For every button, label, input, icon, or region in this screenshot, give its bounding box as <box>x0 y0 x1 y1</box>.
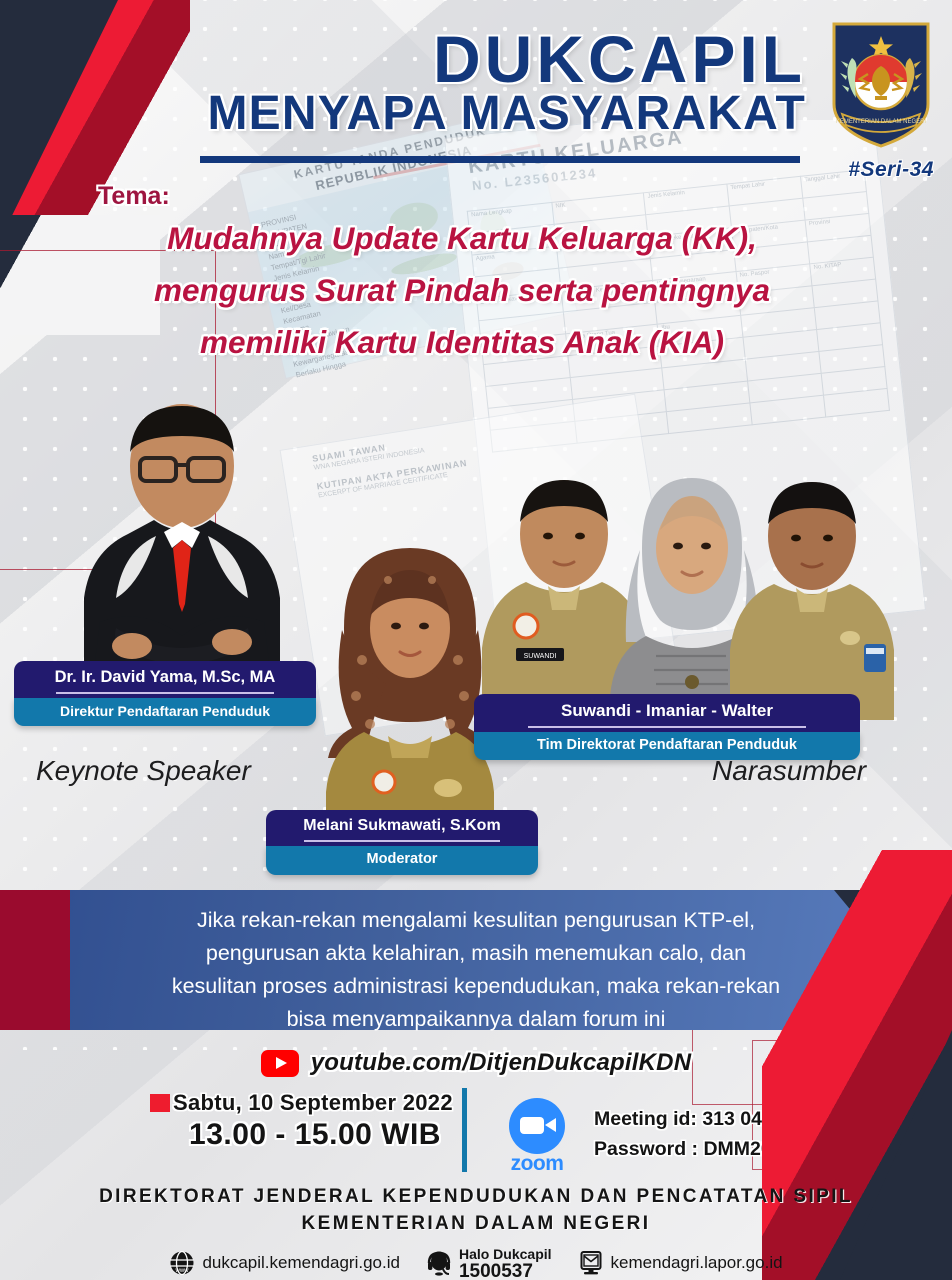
poster-root: KARTU TANDA PENDUDUK REPUBLIK INDONESIA … <box>0 0 952 1280</box>
zoom-camera-icon <box>509 1098 565 1154</box>
message-line-4: bisa menyampaikannya dalam forum ini <box>86 1003 866 1036</box>
footer-contacts: www dukcapil.kemendagri.go.id Halo Dukca… <box>0 1246 952 1280</box>
keynote-speaker-photo <box>36 370 326 700</box>
message-text: Jika rekan-rekan mengalami kesulitan pen… <box>86 904 866 1036</box>
theme-title: Mudahnya Update Kartu Keluarga (KK), men… <box>0 212 952 368</box>
schedule-date-line: Sabtu, 10 September 2022 <box>150 1090 480 1116</box>
zoom-logo: zoom <box>492 1098 582 1176</box>
keynote-name: Dr. Ir. David Yama, M.Sc, MA <box>14 661 316 698</box>
schedule-time: 13.00 - 15.00 WIB <box>150 1118 480 1152</box>
contact-hotline: Halo Dukcapil 1500537 <box>426 1246 552 1280</box>
keynote-name-plate: Dr. Ir. David Yama, M.Sc, MA Direktur Pe… <box>14 661 316 726</box>
theme-line-2: mengurus Surat Pindah serta pentingnya <box>0 264 952 316</box>
emblem-ribbon-text: KEMENTERIAN DALAM NEGERI <box>836 119 927 125</box>
schedule-date: Sabtu, 10 September 2022 <box>173 1090 453 1115</box>
contact-hotline-number: 1500537 <box>459 1263 552 1280</box>
team-name-plate: Suwandi - Imaniar - Walter Tim Direktora… <box>474 694 860 760</box>
footer-org-line-1: DIREKTORAT JENDERAL KEPENDUDUKAN DAN PEN… <box>0 1186 952 1208</box>
page-title: DUKCAPIL <box>433 26 806 92</box>
team-names: Suwandi - Imaniar - Walter <box>474 694 860 732</box>
moderator-name-plate: Melani Sukmawati, S.Kom Moderator <box>266 810 538 875</box>
message-banner-left-accent <box>0 890 70 1030</box>
youtube-url[interactable]: youtube.com/DitjenDukcapilKDN <box>311 1049 692 1077</box>
kemendagri-emblem-icon: KEMENTERIAN DALAM NEGERI <box>828 18 934 150</box>
contact-lapor[interactable]: kemendagri.lapor.go.id <box>578 1250 783 1276</box>
contact-website-label[interactable]: dukcapil.kemendagri.go.id <box>202 1253 400 1273</box>
theme-label: Tema: <box>98 182 170 211</box>
globe-www-icon: www <box>169 1250 195 1276</box>
header-underline-rule <box>200 156 800 163</box>
theme-line-1: Mudahnya Update Kartu Keluarga (KK), <box>0 212 952 264</box>
moderator-role: Moderator <box>266 846 538 875</box>
narasumber-team-photo: SUWANDI <box>480 450 900 720</box>
headset-icon <box>426 1250 452 1276</box>
svg-text:www: www <box>175 1268 190 1274</box>
page-subtitle: MENYAPA MASYARAKAT <box>207 90 806 138</box>
contact-lapor-label[interactable]: kemendagri.lapor.go.id <box>611 1253 783 1273</box>
computer-mail-icon <box>578 1250 604 1276</box>
schedule-divider <box>462 1088 467 1172</box>
footer-org-line-2: KEMENTERIAN DALAM NEGERI <box>0 1213 952 1235</box>
youtube-icon[interactable] <box>261 1050 299 1077</box>
keynote-role: Direktur Pendaftaran Penduduk <box>14 698 316 726</box>
message-line-3: kesulitan proses administrasi kependuduk… <box>86 970 866 1003</box>
red-square-bullet-icon <box>150 1094 170 1112</box>
header: DUKCAPIL MENYAPA MASYARAKAT <box>0 10 952 170</box>
moderator-name: Melani Sukmawati, S.Kom <box>266 810 538 846</box>
contact-hotline-text: Halo Dukcapil 1500537 <box>459 1246 552 1280</box>
schedule-datetime: Sabtu, 10 September 2022 13.00 - 15.00 W… <box>150 1090 480 1152</box>
svg-text:SUWANDI: SUWANDI <box>524 653 557 660</box>
narasumber-label: Narasumber <box>712 755 866 787</box>
theme-line-3: memiliki Kartu Identitas Anak (KIA) <box>0 316 952 368</box>
contact-website[interactable]: www dukcapil.kemendagri.go.id <box>169 1250 400 1276</box>
keynote-label: Keynote Speaker <box>36 755 251 787</box>
narasumber-3 <box>730 482 894 720</box>
message-line-1: Jika rekan-rekan mengalami kesulitan pen… <box>86 904 866 937</box>
series-badge: #Seri-34 <box>848 158 934 182</box>
footer: DIREKTORAT JENDERAL KEPENDUDUKAN DAN PEN… <box>0 1182 952 1280</box>
message-line-2: pengurusan akta kelahiran, masih menemuk… <box>86 937 866 970</box>
zoom-wordmark: zoom <box>492 1152 582 1176</box>
